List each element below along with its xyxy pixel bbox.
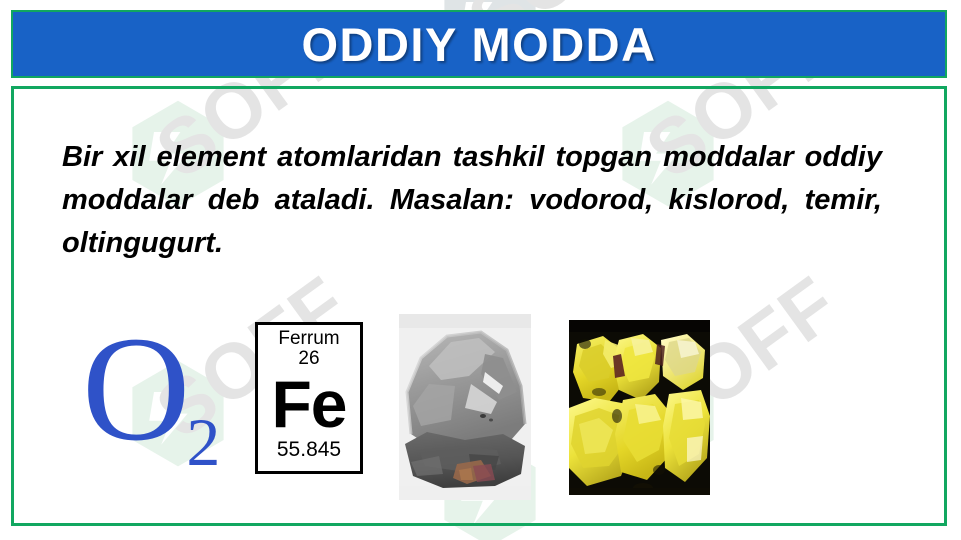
element-atomic-mass: 55.845: [277, 439, 341, 461]
oxygen-formula: O2: [82, 318, 232, 461]
element-name: Ferrum: [278, 329, 339, 349]
slide-title-bar: ODDIY MODDA: [11, 10, 947, 78]
oxygen-symbol-letter: O: [82, 306, 190, 472]
definition-text: Bir xil element atomlaridan tashkil topg…: [62, 136, 882, 265]
element-symbol: Fe: [271, 371, 346, 437]
iron-element-card: Ferrum 26 Fe 55.845: [255, 322, 363, 474]
oxygen-subscript: 2: [186, 404, 220, 480]
oxygen-formula-figure: O2: [82, 318, 232, 478]
page-title: ODDIY MODDA: [301, 17, 656, 72]
slide-root: SOFF SOFF SOFF SOFF: [0, 0, 961, 540]
figure-row: O2 Ferrum 26 Fe 55.845: [82, 300, 742, 500]
sulfur-crystals-image: [569, 320, 710, 495]
iron-ore-image: [399, 314, 531, 500]
element-atomic-number: 26: [298, 349, 319, 369]
